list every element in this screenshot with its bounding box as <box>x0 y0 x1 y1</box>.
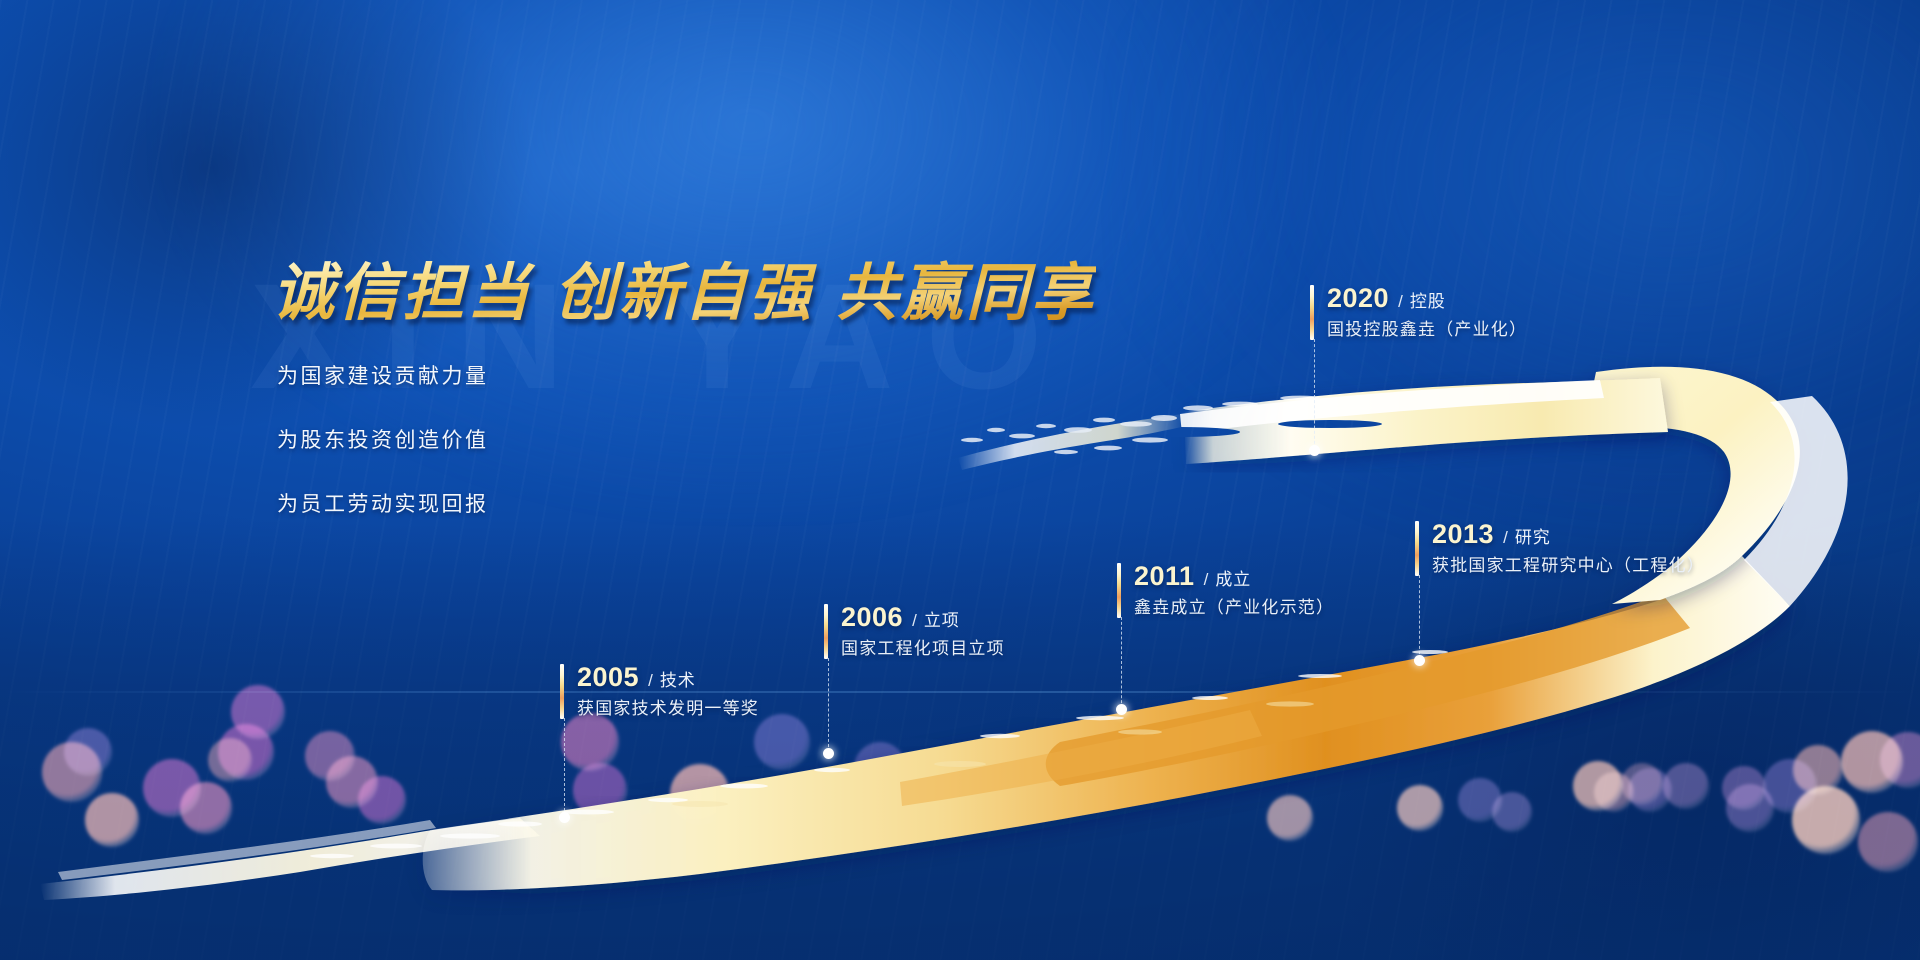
marker-2005-separator: / <box>648 672 653 689</box>
marker-2006-description: 国家工程化项目立项 <box>841 639 1005 659</box>
marker-2013-leader-line <box>1419 575 1420 659</box>
headline-segment-2: 创新自强 <box>554 256 814 329</box>
marker-2006-tag: 立项 <box>924 612 960 629</box>
subtitle-list: 为国家建设贡献力量为股东投资创造价值为员工劳动实现回报 <box>277 360 489 518</box>
marker-2005-year: 2005 <box>577 664 639 691</box>
marker-2013[interactable]: 2013/研究获批国家工程研究中心（工程化） <box>1415 521 1705 576</box>
marker-2011-text: 2011/成立鑫垚成立（产业化示范） <box>1134 563 1334 618</box>
headline-segment-3: 共赢同享 <box>836 256 1096 329</box>
marker-2020-dot[interactable] <box>1309 445 1320 456</box>
marker-2011-year-row: 2011/成立 <box>1134 563 1334 590</box>
marker-2013-tag: 研究 <box>1515 529 1551 546</box>
marker-2011-year: 2011 <box>1134 563 1195 590</box>
marker-2020-year-row: 2020/控股 <box>1327 285 1527 312</box>
marker-2013-year-row: 2013/研究 <box>1432 521 1705 548</box>
marker-2006-year: 2006 <box>841 604 903 631</box>
marker-2013-description: 获批国家工程研究中心（工程化） <box>1432 556 1705 576</box>
marker-2020-description: 国投控股鑫垚（产业化） <box>1327 320 1527 340</box>
marker-2011-leader-line <box>1121 617 1122 708</box>
headline-segment-1: 诚信担当 <box>272 256 532 329</box>
marker-2005-text: 2005/技术获国家技术发明一等奖 <box>577 664 759 719</box>
marker-2006[interactable]: 2006/立项国家工程化项目立项 <box>824 604 1005 659</box>
marker-2011-dot[interactable] <box>1116 704 1127 715</box>
marker-2006-separator: / <box>912 612 917 629</box>
marker-2005-accent-bar <box>560 664 564 719</box>
marker-2005[interactable]: 2005/技术获国家技术发明一等奖 <box>560 664 759 719</box>
marker-2005-dot[interactable] <box>559 812 570 823</box>
marker-2005-leader-line <box>564 718 565 816</box>
subtitle-line-1: 为国家建设贡献力量 <box>277 360 489 390</box>
marker-2013-text: 2013/研究获批国家工程研究中心（工程化） <box>1432 521 1705 576</box>
marker-2013-separator: / <box>1503 529 1508 546</box>
marker-2013-content: 2013/研究获批国家工程研究中心（工程化） <box>1415 521 1705 576</box>
marker-2006-content: 2006/立项国家工程化项目立项 <box>824 604 1005 659</box>
marker-2011[interactable]: 2011/成立鑫垚成立（产业化示范） <box>1117 563 1334 618</box>
marker-2011-separator: / <box>1204 571 1209 588</box>
marker-2006-text: 2006/立项国家工程化项目立项 <box>841 604 1005 659</box>
marker-2020-separator: / <box>1398 293 1403 310</box>
marker-2011-description: 鑫垚成立（产业化示范） <box>1134 598 1334 618</box>
marker-2020-content: 2020/控股国投控股鑫垚（产业化） <box>1310 285 1527 340</box>
marker-2006-dot[interactable] <box>823 748 834 759</box>
marker-2020-leader-line <box>1314 339 1315 449</box>
marker-2013-year: 2013 <box>1432 521 1494 548</box>
marker-2011-content: 2011/成立鑫垚成立（产业化示范） <box>1117 563 1334 618</box>
marker-2011-accent-bar <box>1117 563 1121 618</box>
marker-2006-leader-line <box>828 658 829 752</box>
marker-2011-tag: 成立 <box>1215 571 1251 588</box>
marker-2006-accent-bar <box>824 604 828 659</box>
marker-2006-year-row: 2006/立项 <box>841 604 1005 631</box>
marker-2020-year: 2020 <box>1327 285 1389 312</box>
marker-2020-accent-bar <box>1310 285 1314 340</box>
subtitle-line-3: 为员工劳动实现回报 <box>277 488 489 518</box>
marker-2005-content: 2005/技术获国家技术发明一等奖 <box>560 664 759 719</box>
marker-2020-tag: 控股 <box>1410 293 1446 310</box>
marker-2005-tag: 技术 <box>660 672 696 689</box>
marker-2020-text: 2020/控股国投控股鑫垚（产业化） <box>1327 285 1527 340</box>
page-title: 诚信担当创新自强共赢同享 <box>272 242 1096 332</box>
marker-2020[interactable]: 2020/控股国投控股鑫垚（产业化） <box>1310 285 1527 340</box>
marker-2013-accent-bar <box>1415 521 1419 576</box>
subtitle-line-2: 为股东投资创造价值 <box>277 424 489 454</box>
banner-canvas: XIN YAO <box>0 0 1920 960</box>
marker-2013-dot[interactable] <box>1414 655 1425 666</box>
marker-2005-description: 获国家技术发明一等奖 <box>577 699 759 719</box>
marker-2005-year-row: 2005/技术 <box>577 664 759 691</box>
